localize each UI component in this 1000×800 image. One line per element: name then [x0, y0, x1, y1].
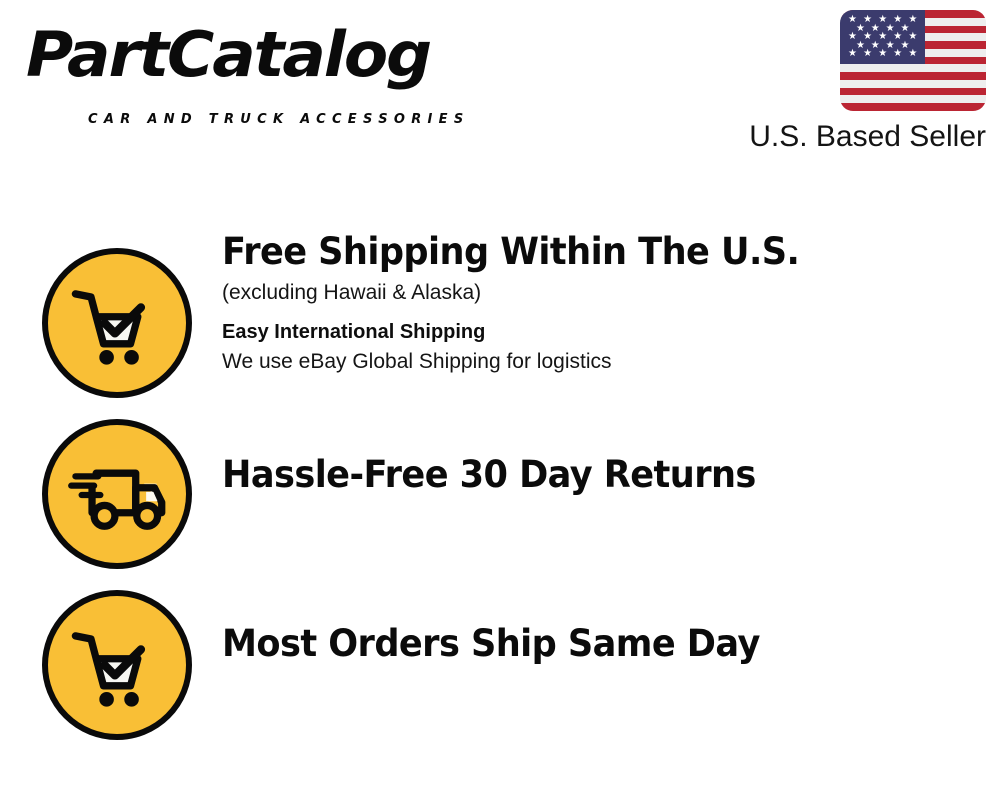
- feature-badge: [42, 419, 192, 569]
- feature-note: (excluding Hawaii & Alaska): [222, 280, 980, 306]
- flag-star: ★: [848, 49, 857, 59]
- us-based-seller-badge: ★ ★ ★ ★ ★ ★ ★ ★ ★ ★ ★ ★: [714, 10, 986, 153]
- flag-stripe: [840, 64, 986, 72]
- flag-star: ★: [893, 49, 902, 59]
- us-flag-icon: ★ ★ ★ ★ ★ ★ ★ ★ ★ ★ ★ ★: [840, 10, 986, 111]
- feature-title: Hassle-Free 30 Day Returns: [222, 453, 942, 497]
- feature-title: Most Orders Ship Same Day: [222, 622, 942, 666]
- flag-star: ★: [863, 49, 872, 59]
- flag-stripe: [840, 103, 986, 111]
- feature-subtitle-strong: Easy International Shipping: [222, 320, 980, 345]
- flag-star: ★: [908, 15, 917, 25]
- feature-row: Free Shipping Within The U.S. (excluding…: [0, 230, 1000, 415]
- brand-tagline: CAR AND TRUCK ACCESSORIES: [88, 112, 470, 127]
- flag-stripe: [840, 88, 986, 96]
- feature-row: Hassle-Free 30 Day Returns: [0, 419, 1000, 589]
- flag-star: ★: [878, 49, 887, 59]
- promo-banner: PartCatalog CAR AND TRUCK ACCESSORIES ★: [0, 0, 1000, 800]
- flag-stripe: [840, 72, 986, 80]
- feature-row: Most Orders Ship Same Day: [0, 590, 1000, 750]
- feature-text: Free Shipping Within The U.S. (excluding…: [222, 230, 980, 375]
- flag-stripe: [840, 80, 986, 88]
- flag-star: ★: [908, 49, 917, 59]
- brand-logo: PartCatalog CAR AND TRUCK ACCESSORIES: [26, 24, 496, 116]
- shopping-cart-check-icon: [65, 613, 169, 717]
- flag-star: ★: [908, 32, 917, 42]
- brand-wordmark: PartCatalog: [26, 24, 430, 86]
- flag-stars: ★ ★ ★ ★ ★ ★ ★ ★ ★ ★ ★ ★: [840, 10, 925, 64]
- feature-title: Free Shipping Within The U.S.: [222, 230, 942, 274]
- flag-star-row: ★ ★ ★ ★ ★: [845, 51, 920, 57]
- feature-text: Most Orders Ship Same Day: [222, 622, 980, 666]
- feature-text: Hassle-Free 30 Day Returns: [222, 453, 980, 497]
- feature-badge: [42, 590, 192, 740]
- delivery-truck-icon: [65, 442, 169, 546]
- flag-stripe: [840, 95, 986, 103]
- shopping-cart-check-icon: [65, 271, 169, 375]
- flag-canton: ★ ★ ★ ★ ★ ★ ★ ★ ★ ★ ★ ★: [840, 10, 925, 64]
- feature-subtitle: We use eBay Global Shipping for logistic…: [222, 348, 980, 375]
- us-based-seller-label: U.S. Based Seller: [714, 120, 986, 153]
- feature-badge: [42, 248, 192, 398]
